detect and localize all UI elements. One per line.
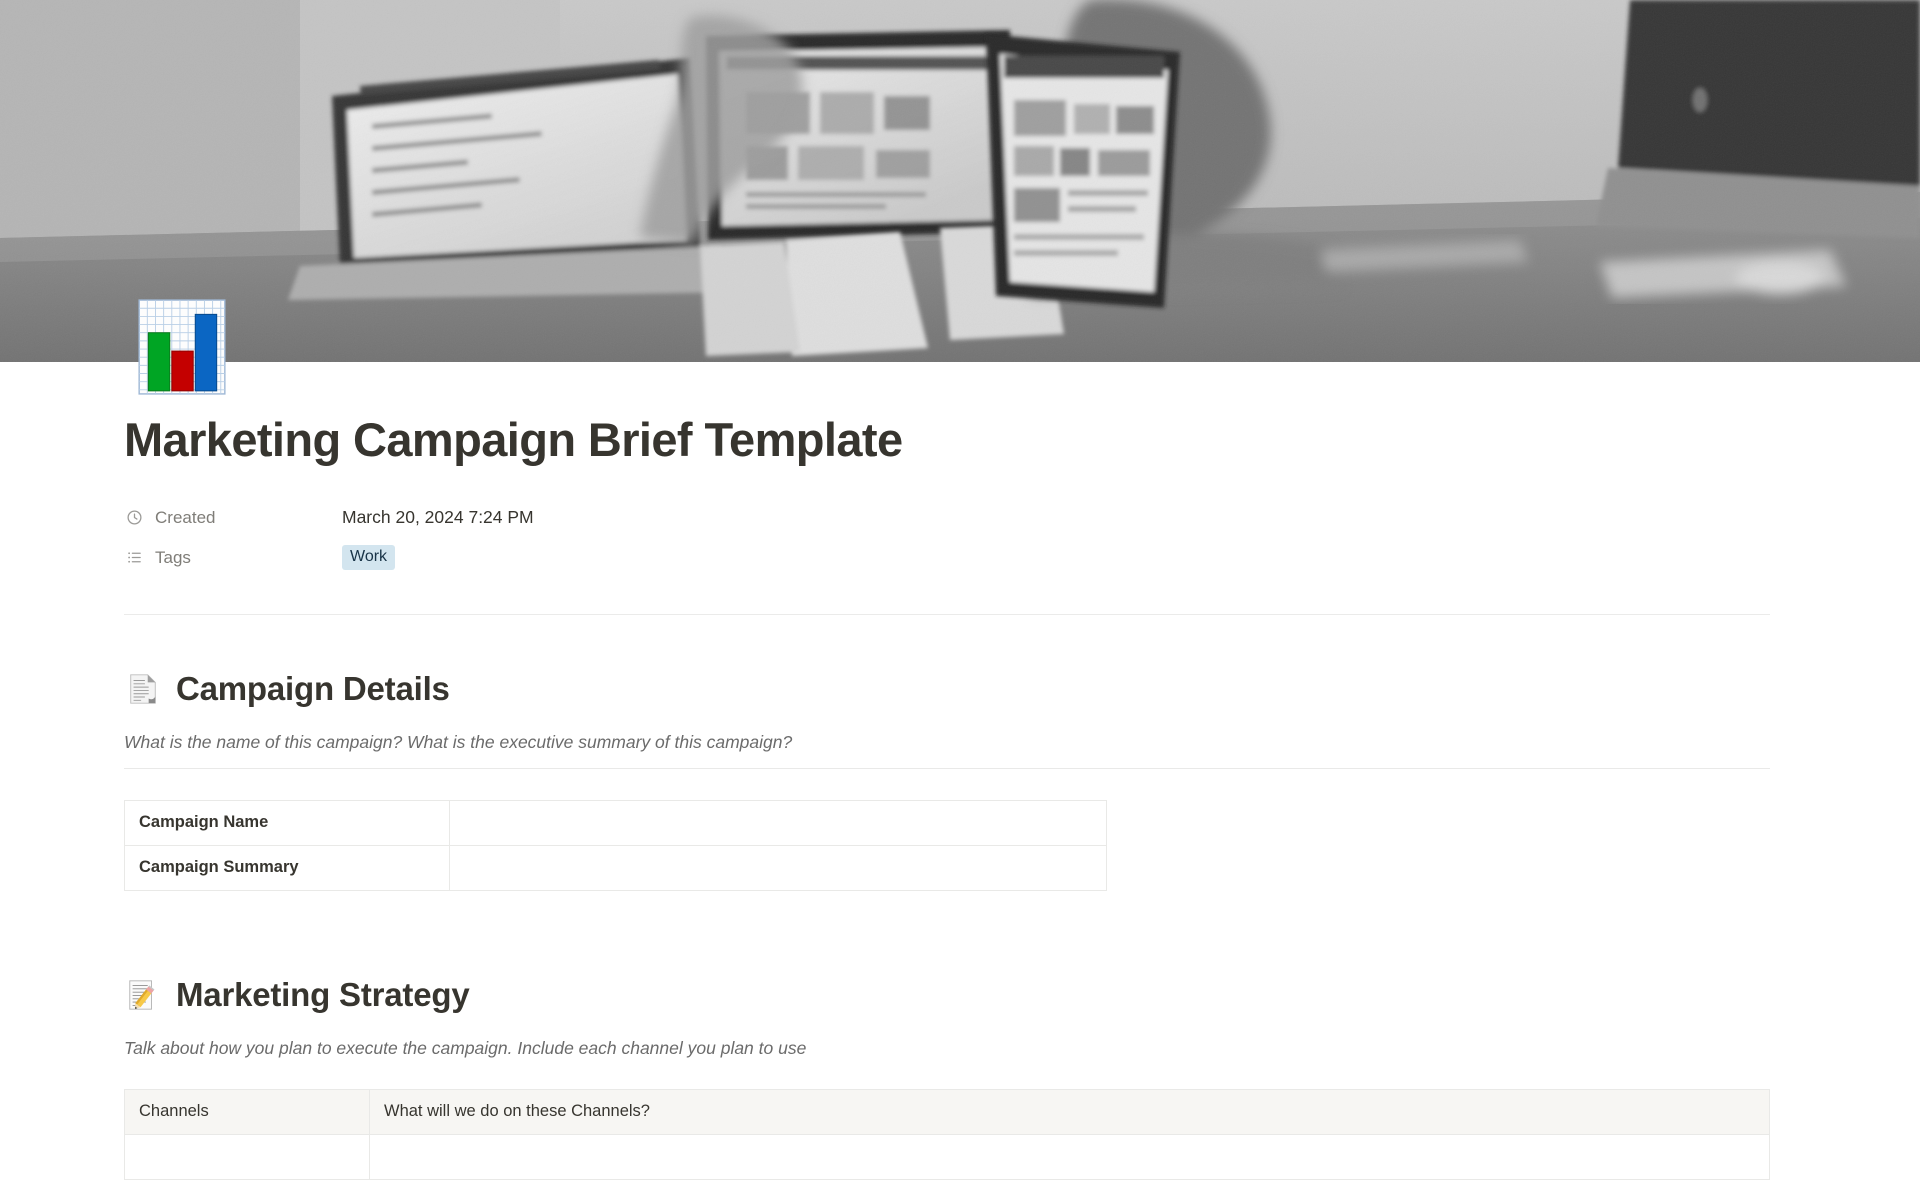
document-page-icon	[126, 672, 160, 706]
section-subtitle-campaign-details[interactable]: What is the name of this campaign? What …	[124, 732, 1770, 753]
property-row-tags[interactable]: Tags Work	[124, 538, 1770, 578]
memo-emoji-icon	[124, 976, 162, 1014]
table-row[interactable]: Campaign Name	[125, 800, 1107, 845]
campaign-details-table[interactable]: Campaign Name Campaign Summary	[124, 800, 1107, 891]
memo-pencil-icon	[126, 978, 160, 1012]
section-marketing-strategy: Marketing Strategy Talk about how you pl…	[124, 976, 1770, 1180]
property-label-created: Created	[155, 508, 215, 528]
cover-photo-illustration	[0, 0, 1920, 362]
section-campaign-details: Campaign Details What is the name of thi…	[124, 670, 1770, 891]
cell-campaign-name-value[interactable]	[450, 800, 1107, 845]
cell-plan-value[interactable]	[370, 1134, 1770, 1179]
page-facing-up-emoji-icon	[124, 670, 162, 708]
marketing-channels-table[interactable]: Channels What will we do on these Channe…	[124, 1089, 1770, 1180]
tag-badge-work[interactable]: Work	[342, 545, 395, 570]
property-label-tags: Tags	[155, 548, 191, 568]
page-title[interactable]: Marketing Campaign Brief Template	[124, 414, 1770, 466]
section-heading-marketing-strategy[interactable]: Marketing Strategy	[124, 976, 1770, 1014]
title-block: Marketing Campaign Brief Template	[124, 362, 1770, 466]
table-header-row: Channels What will we do on these Channe…	[125, 1089, 1770, 1134]
cell-campaign-name-key[interactable]: Campaign Name	[125, 800, 450, 845]
section-title-campaign-details: Campaign Details	[176, 670, 450, 708]
document-page: Marketing Campaign Brief Template Create…	[0, 0, 1920, 1199]
list-icon	[124, 548, 144, 568]
property-value-tags[interactable]: Work	[342, 545, 395, 570]
section-heading-campaign-details[interactable]: Campaign Details	[124, 670, 1770, 708]
cell-campaign-summary-key[interactable]: Campaign Summary	[125, 845, 450, 890]
cell-channel-value[interactable]	[125, 1134, 370, 1179]
page-properties: Created March 20, 2024 7:24 PM Tags Work	[124, 498, 1770, 578]
property-value-created[interactable]: March 20, 2024 7:24 PM	[342, 507, 534, 528]
column-header-channels[interactable]: Channels	[125, 1089, 370, 1134]
clock-icon	[124, 508, 144, 528]
header-divider	[124, 614, 1770, 615]
section-divider-campaign-details	[124, 768, 1770, 769]
cell-campaign-summary-value[interactable]	[450, 845, 1107, 890]
property-row-created[interactable]: Created March 20, 2024 7:24 PM	[124, 498, 1770, 538]
page-icon-bar-chart[interactable]	[131, 296, 233, 398]
page-content: Marketing Campaign Brief Template Create…	[0, 362, 1920, 1180]
table-row[interactable]: Campaign Summary	[125, 845, 1107, 890]
section-subtitle-marketing-strategy[interactable]: Talk about how you plan to execute the c…	[124, 1038, 1770, 1059]
property-key-created[interactable]: Created	[124, 508, 342, 528]
section-title-marketing-strategy: Marketing Strategy	[176, 976, 469, 1014]
table-row[interactable]	[125, 1134, 1770, 1179]
column-header-plan[interactable]: What will we do on these Channels?	[370, 1089, 1770, 1134]
bar-chart-emoji-icon	[131, 296, 233, 398]
property-key-tags[interactable]: Tags	[124, 548, 342, 568]
cover-image[interactable]	[0, 0, 1920, 362]
